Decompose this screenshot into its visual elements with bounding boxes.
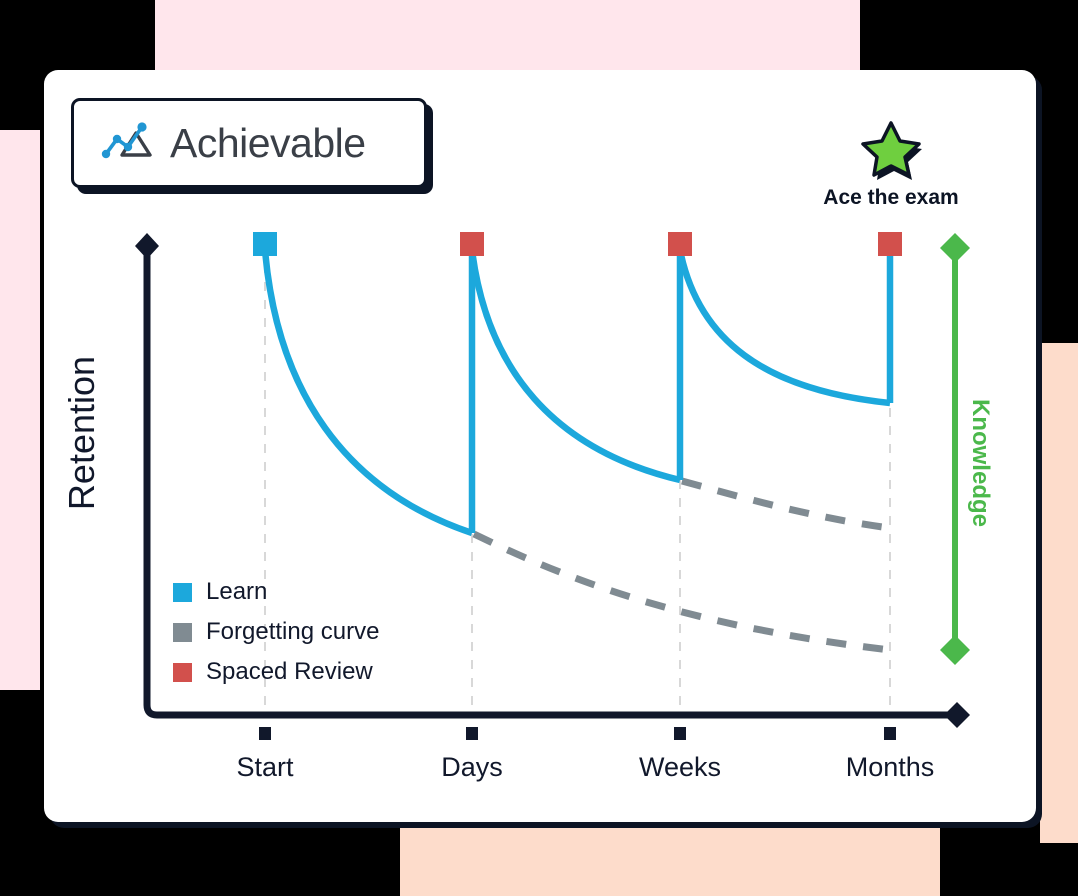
legend-swatch-spaced-review: [173, 663, 192, 682]
legend-item-learn[interactable]: Learn: [173, 572, 379, 612]
y-axis-arrowhead-icon: [135, 233, 159, 259]
ace-the-exam-label: Ace the exam: [805, 186, 977, 210]
marker-learn: [253, 232, 277, 256]
line-chart-mountain-icon: [100, 121, 162, 165]
marker-spaced-review-1: [460, 232, 484, 256]
x-axis-label-days: Days: [372, 752, 572, 783]
legend-label-spaced-review: Spaced Review: [206, 658, 373, 686]
x-axis-ticks: [259, 727, 896, 740]
x-axis-label-weeks: Weeks: [580, 752, 780, 783]
chart-legend: Learn Forgetting curve Spaced Review: [173, 572, 379, 692]
x-axis-label-start: Start: [165, 752, 365, 783]
ace-the-exam-badge: Ace the exam: [805, 118, 977, 210]
decor-rect-right: [1040, 343, 1078, 843]
marker-spaced-review-2: [668, 232, 692, 256]
decor-rect-top: [155, 0, 860, 70]
x-axis-arrowhead-icon: [944, 702, 970, 728]
legend-swatch-learn: [173, 583, 192, 602]
star-icon: [858, 118, 924, 180]
decor-rect-bottom: [400, 828, 940, 896]
legend-item-forgetting-curve[interactable]: Forgetting curve: [173, 612, 379, 652]
logo-wordmark: Achievable: [170, 120, 366, 167]
legend-label-forgetting-curve: Forgetting curve: [206, 618, 379, 646]
learn-retention-curve: [265, 250, 890, 533]
brand-logo[interactable]: Achievable: [71, 98, 427, 188]
knowledge-annotation-label: Knowledge: [966, 378, 994, 548]
forgetting-curve-dashed: [474, 481, 890, 650]
legend-swatch-forgetting-curve: [173, 623, 192, 642]
x-axis-label-months: Months: [790, 752, 990, 783]
legend-item-spaced-review[interactable]: Spaced Review: [173, 652, 379, 692]
marker-spaced-review-3: [878, 232, 902, 256]
decor-rect-left: [0, 130, 40, 690]
y-axis-title: Retention: [61, 333, 103, 533]
chart-markers: [253, 232, 902, 256]
legend-label-learn: Learn: [206, 578, 267, 606]
screenshot-root: Achievable Ace the exam Retention Knowle…: [0, 0, 1078, 896]
